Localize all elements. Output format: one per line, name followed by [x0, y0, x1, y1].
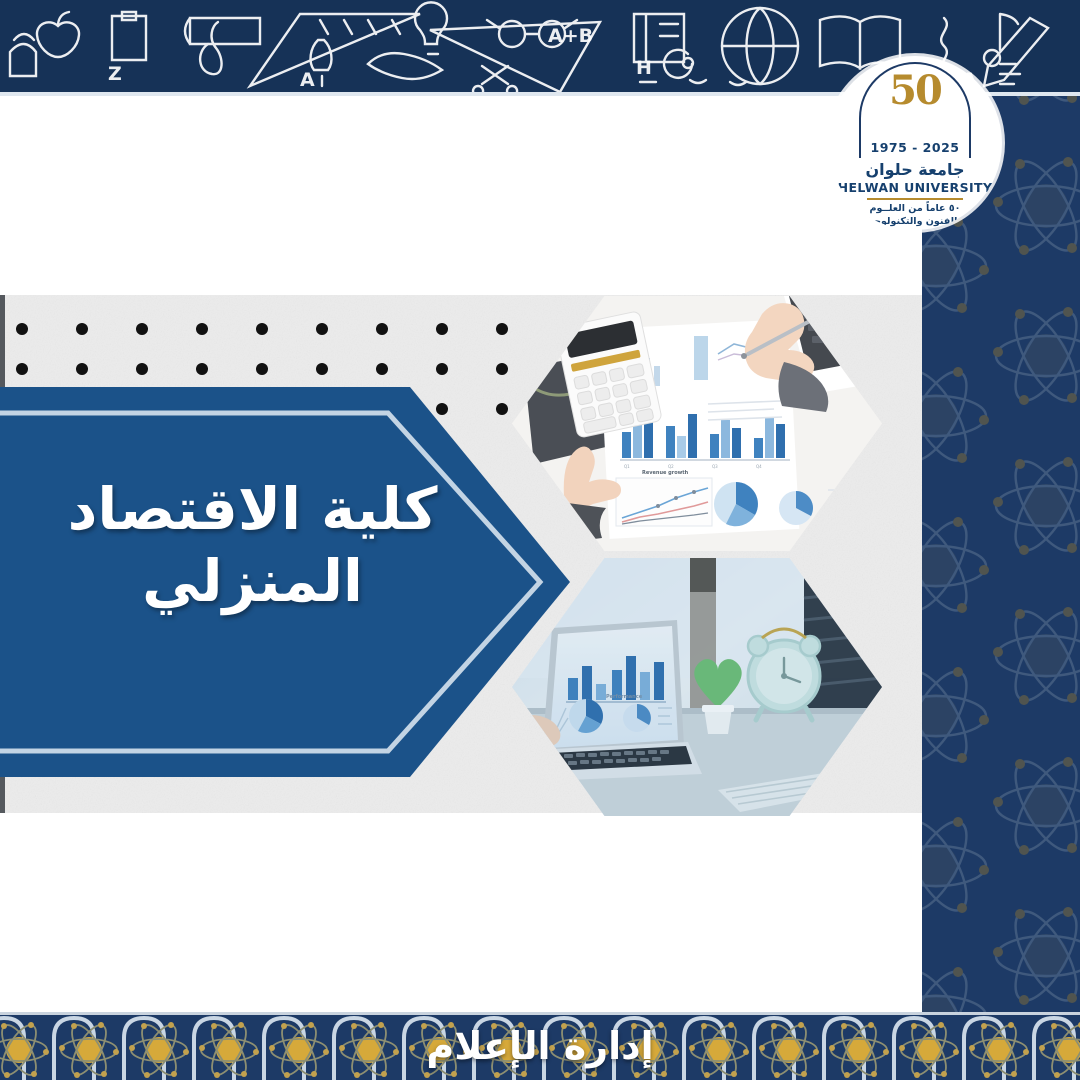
media-department-banner: إدارة الإعلام: [0, 1012, 1080, 1080]
logo-arabic-name: جامعة حلوان: [866, 160, 965, 179]
atom-pattern-strip: [922, 96, 1080, 1012]
anniversary-years: 1975 - 2025: [871, 140, 960, 155]
faculty-title-line1: كلية الاقتصاد: [0, 473, 505, 545]
svg-text:H: H: [636, 57, 652, 79]
svg-text:Z: Z: [108, 63, 122, 85]
svg-text:Q3: Q3: [712, 464, 718, 469]
logo-arch-frame: 50 1975 - 2025: [859, 62, 971, 158]
faculty-title: كلية الاقتصاد المنزلي: [0, 473, 505, 617]
helwan-university-50-years-logo: 50 1975 - 2025 جامعة حلوان HELWAN UNIVER…: [828, 56, 1002, 230]
svg-text:Q2: Q2: [668, 464, 674, 469]
svg-text:A+B: A+B: [548, 25, 593, 47]
svg-text:Revenue growth: Revenue growth: [642, 470, 689, 476]
poster: A+B Z A H A: [0, 0, 1080, 1080]
logo-tagline-line1: ٥٠ عاماً من العلــوم: [870, 202, 961, 215]
logo-divider: [867, 198, 963, 200]
logo-english-name: HELWAN UNIVERSITY: [838, 180, 993, 195]
svg-text:A: A: [300, 69, 315, 91]
faculty-title-line2: المنزلي: [0, 545, 505, 617]
svg-text:Q4: Q4: [756, 464, 762, 469]
anniversary-number: 50: [861, 68, 969, 114]
atom-pattern-icon: [922, 96, 1080, 1012]
svg-text:Q1: Q1: [624, 464, 630, 469]
media-department-title: إدارة الإعلام: [0, 1012, 1080, 1080]
